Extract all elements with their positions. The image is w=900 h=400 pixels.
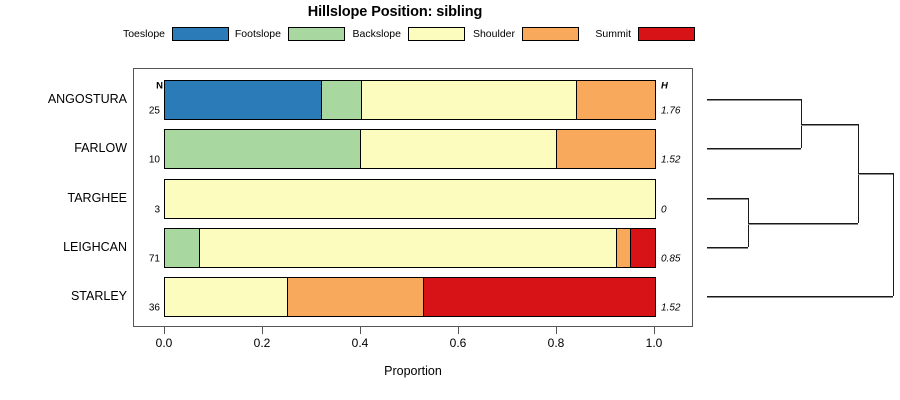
- legend-label: Backslope: [353, 28, 408, 40]
- row-n-value: 71: [134, 254, 160, 265]
- bar-segment-backslope: [360, 129, 557, 169]
- bar-segment-summit: [423, 277, 656, 317]
- legend-label: Footslope: [235, 28, 288, 40]
- row-h-value: 1.76: [661, 106, 701, 117]
- x-axis-title: Proportion: [133, 364, 693, 378]
- x-axis-tick: [458, 327, 459, 334]
- stacked-bar: [165, 277, 655, 317]
- row-n-value: 25: [134, 106, 160, 117]
- row-taxon-label: LEIGHCAN: [2, 240, 127, 254]
- dendrogram-leaf-targhee: [707, 198, 748, 199]
- legend-label: Shoulder: [473, 28, 522, 40]
- bar-segment-footslope: [321, 80, 363, 120]
- dendrogram-branch-cluster2: [748, 223, 858, 224]
- x-axis-tick: [556, 327, 557, 334]
- x-axis-tick-label: 1.0: [634, 336, 674, 350]
- bar-segment-backslope: [164, 277, 288, 317]
- x-axis-tick: [164, 327, 165, 334]
- legend: ToeslopeFootslopeBackslopeShoulderSummit: [118, 26, 718, 42]
- x-axis-tick-label: 0.0: [144, 336, 184, 350]
- h-column-header: H: [661, 81, 701, 92]
- row-n-value: 10: [134, 155, 160, 166]
- plot-panel: [133, 68, 693, 327]
- x-axis-tick: [654, 327, 655, 334]
- stacked-bar: [165, 179, 655, 219]
- row-h-value: 0: [661, 205, 701, 216]
- row-taxon-label: STARLEY: [2, 289, 127, 303]
- bar-segment-toeslope: [164, 80, 322, 120]
- legend-swatch: [408, 27, 465, 41]
- bar-segment-backslope: [164, 179, 655, 219]
- n-column-header: N: [137, 81, 163, 92]
- dendrogram-leaf-leighcan: [707, 247, 748, 248]
- row-h-value: 1.52: [661, 303, 701, 314]
- row-n-value: 36: [134, 303, 160, 314]
- legend-label: Summit: [595, 28, 638, 40]
- chart-root: Hillslope Position: sibling ToeslopeFoot…: [0, 0, 900, 400]
- bar-segment-shoulder: [576, 80, 656, 120]
- dendrogram-leaf-farlow: [707, 148, 801, 149]
- dendrogram-join-root: [893, 173, 894, 296]
- legend-swatch: [638, 27, 695, 41]
- x-axis-tick-label: 0.2: [242, 336, 282, 350]
- legend-label: Toeslope: [123, 28, 172, 40]
- dendrogram-leaf-angostura: [707, 99, 801, 100]
- bar-segment-backslope: [361, 80, 577, 120]
- bar-segment-footslope: [164, 129, 361, 169]
- dendrogram-branch-cluster3: [858, 173, 893, 174]
- page-title: Hillslope Position: sibling: [0, 4, 790, 20]
- row-taxon-label: TARGHEE: [2, 191, 127, 205]
- legend-swatch: [172, 27, 229, 41]
- dendrogram-branch-cluster1: [801, 124, 858, 125]
- bar-segment-shoulder: [287, 277, 424, 317]
- x-axis-tick-label: 0.6: [438, 336, 478, 350]
- bar-segment-backslope: [199, 228, 618, 268]
- dendrogram-leaf-starley: [707, 296, 893, 297]
- row-taxon-label: ANGOSTURA: [2, 92, 127, 106]
- dendrogram: [700, 60, 900, 340]
- bar-segment-summit: [630, 228, 656, 268]
- x-axis-tick: [262, 327, 263, 334]
- x-axis-tick: [360, 327, 361, 334]
- stacked-bar: [165, 129, 655, 169]
- legend-swatch: [522, 27, 579, 41]
- x-axis-tick-label: 0.4: [340, 336, 380, 350]
- stacked-bar: [165, 228, 655, 268]
- row-n-value: 3: [134, 205, 160, 216]
- row-h-value: 1.52: [661, 155, 701, 166]
- legend-swatch: [288, 27, 345, 41]
- row-h-value: 0.85: [661, 254, 701, 265]
- bar-segment-shoulder: [556, 129, 655, 169]
- row-taxon-label: FARLOW: [2, 141, 127, 155]
- stacked-bar: [165, 80, 655, 120]
- x-axis-tick-label: 0.8: [536, 336, 576, 350]
- bar-segment-footslope: [164, 228, 200, 268]
- x-axis: 0.00.20.40.60.81.0: [133, 327, 693, 367]
